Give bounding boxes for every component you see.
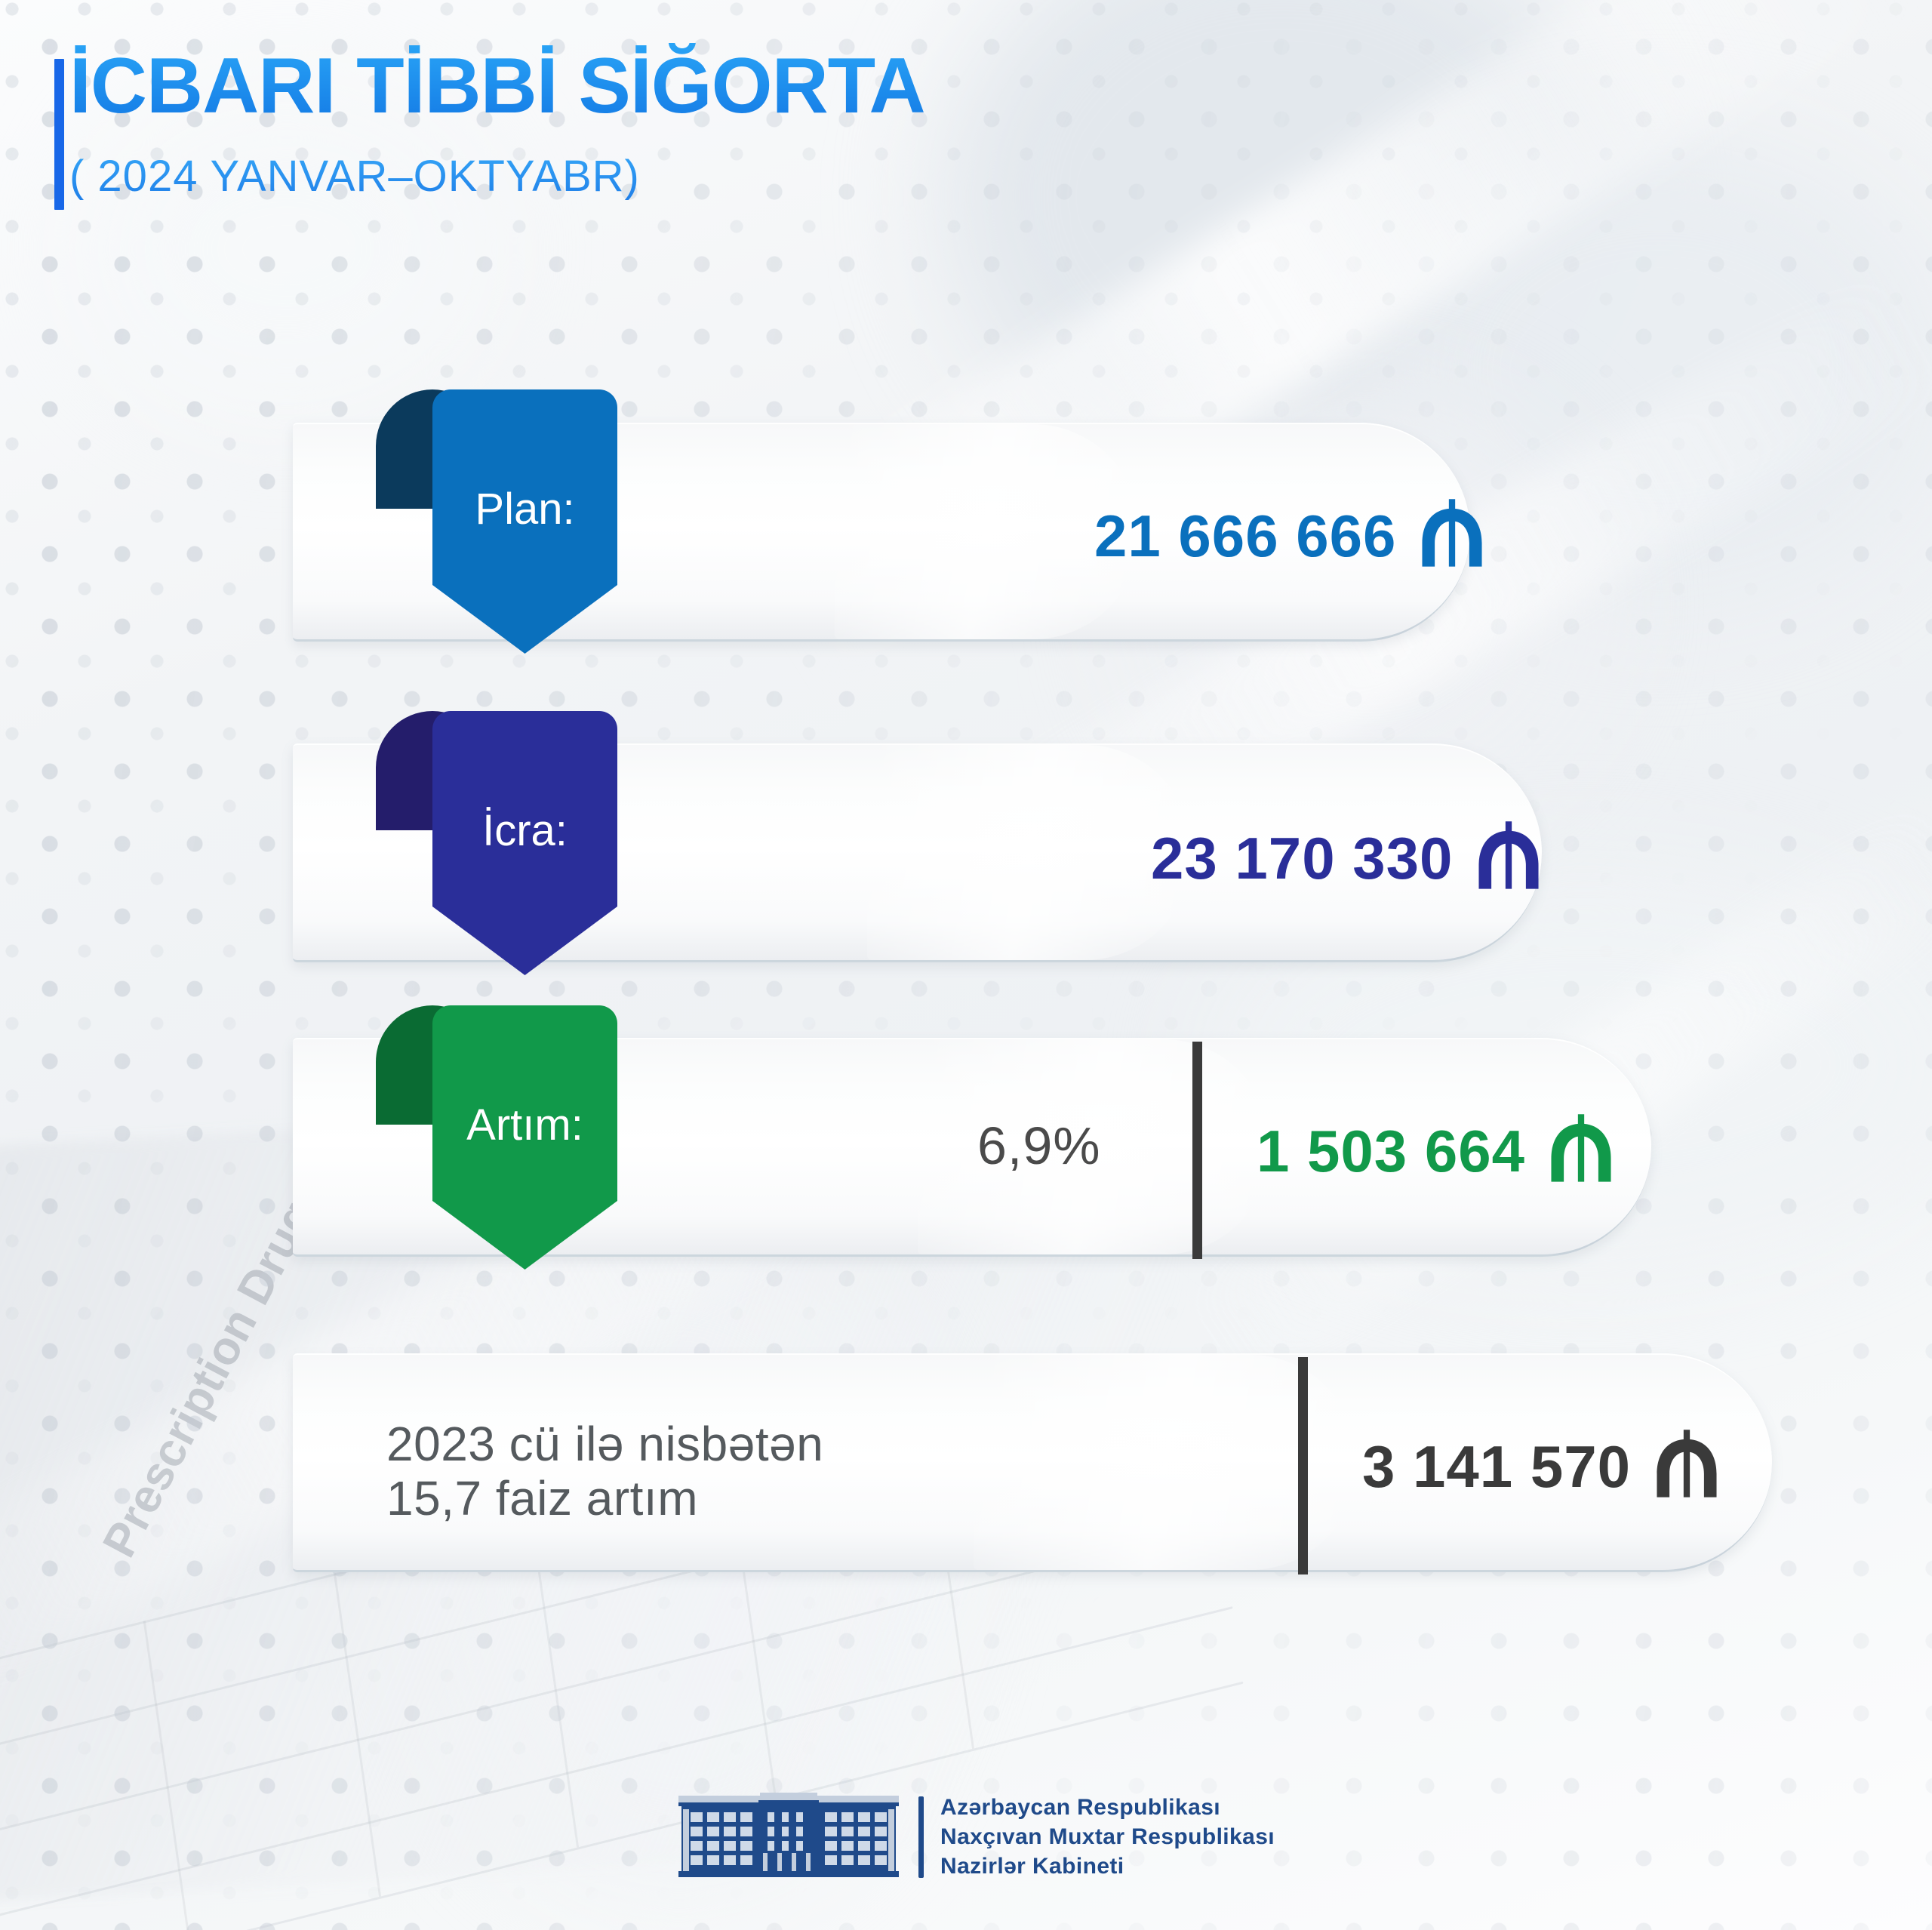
title-accent-bar (54, 59, 64, 210)
footer-line-3: Nazirlər Kabineti (940, 1854, 1275, 1879)
metric-value-icra: 23 170 330 (1151, 817, 1548, 899)
row-divider-summary (1298, 1357, 1308, 1574)
footer-line-1: Azərbaycan Respublikası (940, 1795, 1275, 1821)
metric-value-summary: 3 141 570 (1362, 1425, 1726, 1507)
page-title: İCBARI TİBBİ SİĞORTA (69, 42, 925, 131)
row-divider-artim (1192, 1042, 1202, 1259)
ribbon-label-artim: Artım: (466, 1100, 583, 1150)
footer-branding: Azərbaycan Respublikası Naxçıvan Muxtar … (675, 1793, 1275, 1881)
metric-number-artim: 1 503 664 (1257, 1122, 1525, 1180)
footer-text-block: Azərbaycan Respublikası Naxçıvan Muxtar … (940, 1795, 1275, 1879)
metric-number-plan: 21 666 666 (1094, 506, 1396, 565)
page-subtitle: ( 2024 YANVAR–OKTYABR) (69, 151, 640, 202)
footer-line-2: Naxçıvan Muxtar Respublikası (940, 1824, 1275, 1850)
background: Prescription Drug Reimb (0, 0, 1932, 1930)
government-building-icon (675, 1793, 902, 1881)
footer-divider (918, 1796, 924, 1878)
dot-texture-secondary (0, 0, 1932, 1930)
azerbaijani-manat-icon (1647, 1425, 1726, 1507)
summary-note-line-2: 15,7 faiz artım (386, 1472, 823, 1526)
metric-value-plan: 21 666 666 (1094, 494, 1491, 577)
summary-note-line-1: 2023 cü ilə nisbətən (386, 1417, 823, 1472)
azerbaijani-manat-icon (1542, 1110, 1620, 1192)
metric-number-icra: 23 170 330 (1151, 829, 1453, 888)
metric-percent-artim: 6,9% (977, 1116, 1101, 1176)
azerbaijani-manat-icon (1469, 817, 1548, 899)
azerbaijani-manat-icon (1413, 494, 1491, 577)
summary-note: 2023 cü ilə nisbətən 15,7 faiz artım (386, 1417, 823, 1525)
metric-value-artim: 1 503 664 (1257, 1110, 1620, 1192)
ribbon-label-plan: Plan: (475, 484, 574, 534)
metric-number-summary: 3 141 570 (1362, 1437, 1631, 1496)
ribbon-label-icra: İcra: (482, 805, 568, 856)
